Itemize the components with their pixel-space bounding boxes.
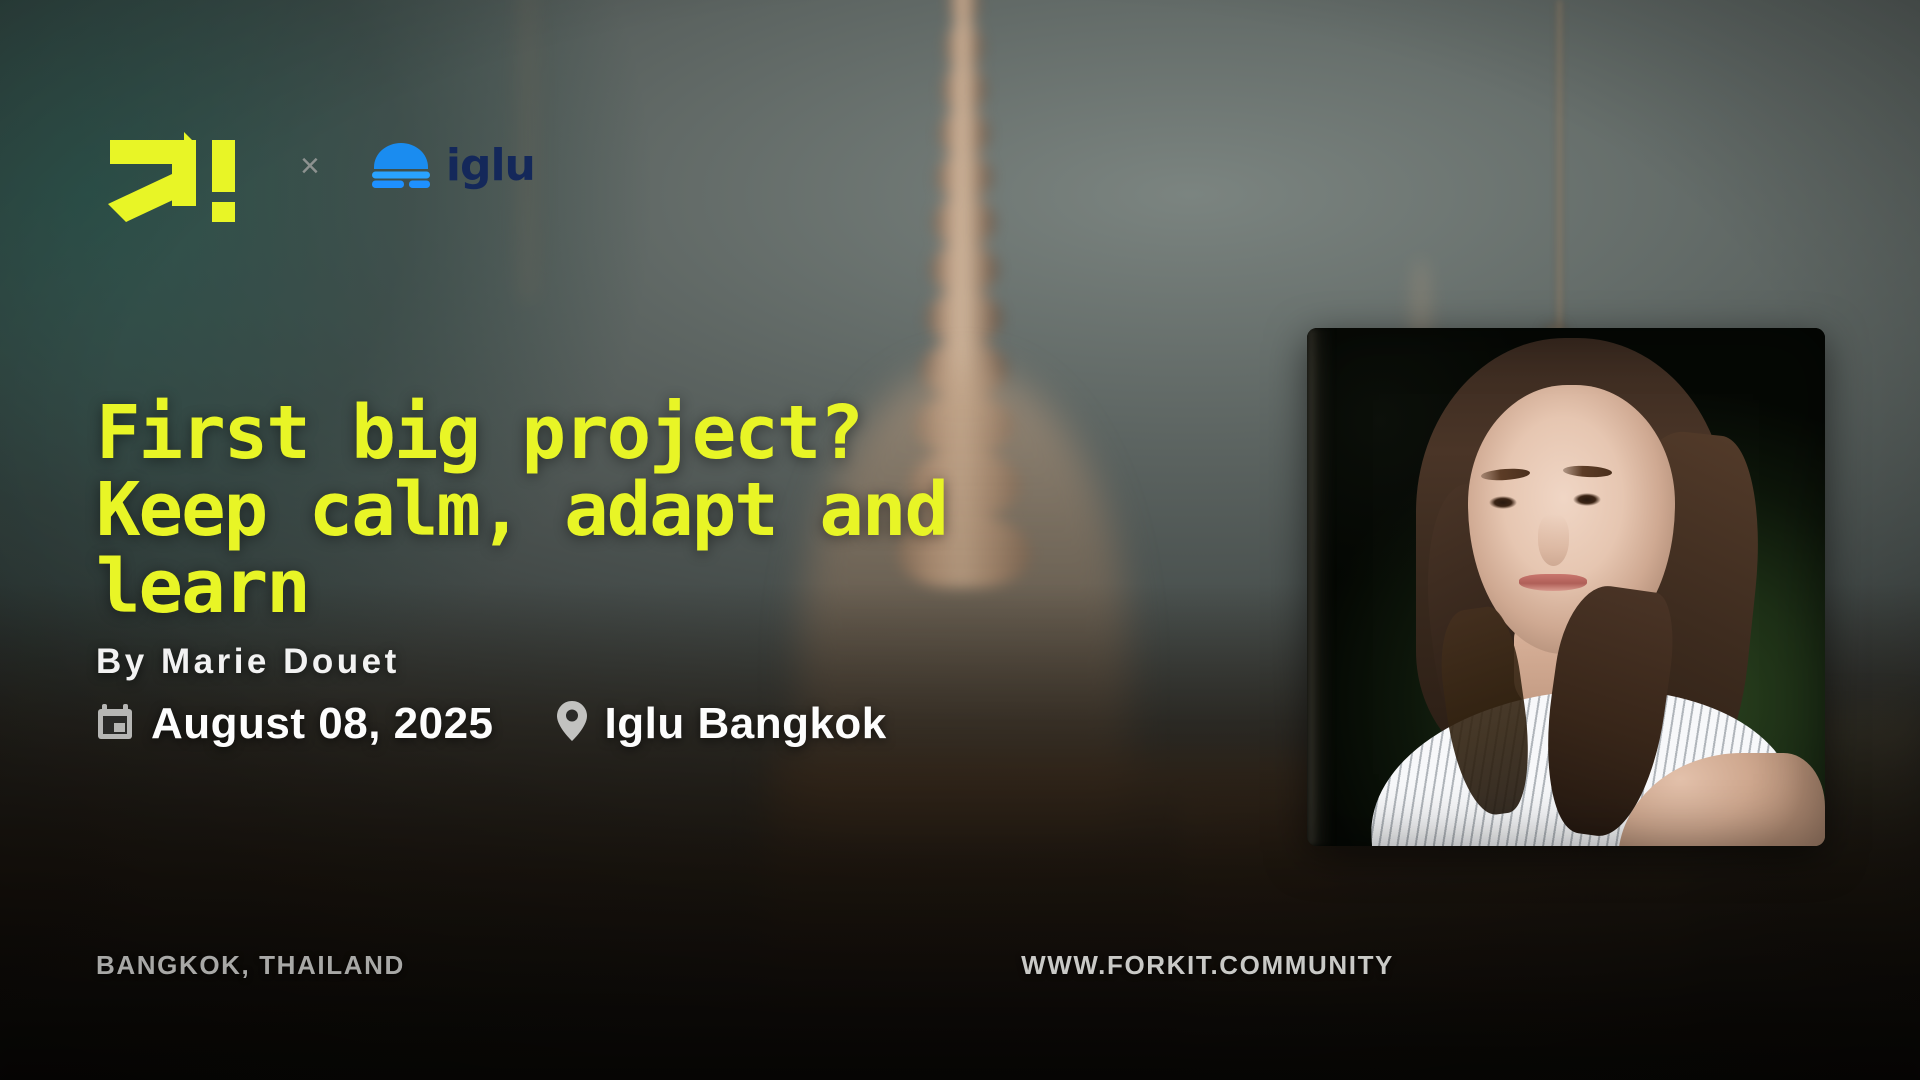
calendar-icon [96,701,134,746]
forkit-arrow-logo[interactable] [96,110,236,222]
portrait-shading [1307,328,1825,846]
footer-city: BANGKOK, THAILAND [96,950,405,981]
map-pin-icon [556,700,588,747]
event-banner: × iglu First big project [0,0,1920,1080]
iglu-wordmark: iglu [446,144,535,188]
logo-row: × iglu [96,110,535,222]
title-block: First big project? Keep calm, adapt and … [96,395,1026,682]
event-date-text: August 08, 2025 [151,702,494,746]
event-location-text: Iglu Bangkok [605,702,887,746]
logo-separator-x: × [300,149,320,183]
event-title: First big project? Keep calm, adapt and … [96,395,1026,626]
speaker-byline: By Marie Douet [96,642,1026,682]
footer-website[interactable]: WWW.FORKIT.COMMUNITY [1021,950,1394,981]
igloo-icon [368,143,434,189]
event-meta-row: August 08, 2025 Iglu Bangkok [96,700,887,747]
speaker-portrait [1307,328,1825,846]
iglu-logo[interactable]: iglu [368,143,535,189]
event-date: August 08, 2025 [96,701,494,746]
event-location: Iglu Bangkok [556,700,887,747]
